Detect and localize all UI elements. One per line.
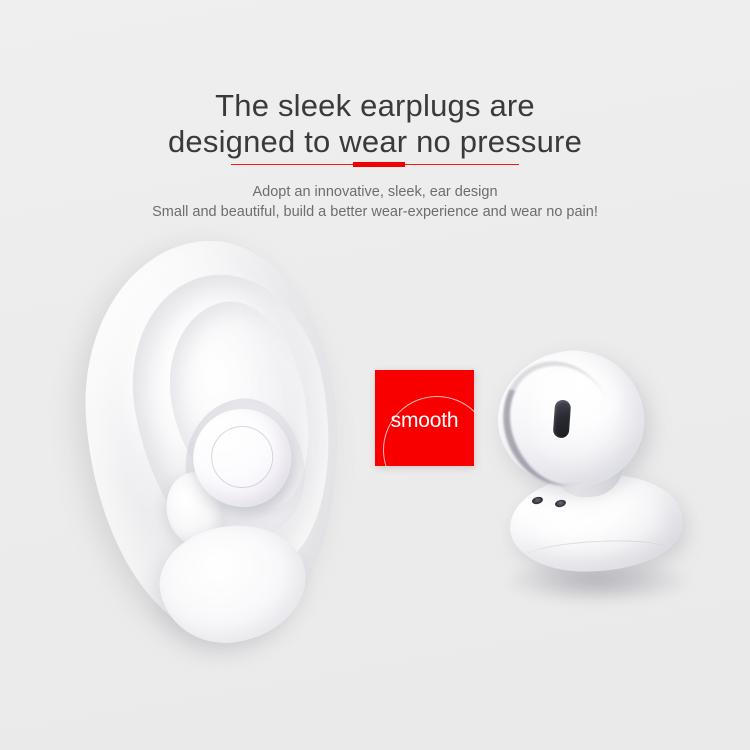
product-banner: The sleek earplugs are designed to wear … (0, 0, 750, 750)
earbud-inner-ring (209, 424, 275, 490)
subtitle-line-2: Small and beautiful, build a better wear… (0, 202, 750, 222)
earbud-speaker-slot (553, 399, 572, 438)
ear-shape (74, 233, 351, 649)
divider-accent-bar (353, 162, 405, 167)
earbud-driver-housing (491, 344, 650, 495)
page-title: The sleek earplugs are designed to wear … (0, 88, 750, 160)
ear-with-earbud-image (60, 235, 390, 655)
headline-line-1: The sleek earplugs are (0, 88, 750, 124)
subtitle-line-1: Adopt an innovative, sleek, ear design (0, 182, 750, 202)
page-subtitle: Adopt an innovative, sleek, ear design S… (0, 182, 750, 222)
headline-line-2: designed to wear no pressure (0, 124, 750, 160)
status-badge: smooth (375, 370, 474, 466)
title-divider (0, 161, 750, 169)
earbud-product-image (480, 345, 710, 625)
badge-label: smooth (375, 370, 474, 466)
